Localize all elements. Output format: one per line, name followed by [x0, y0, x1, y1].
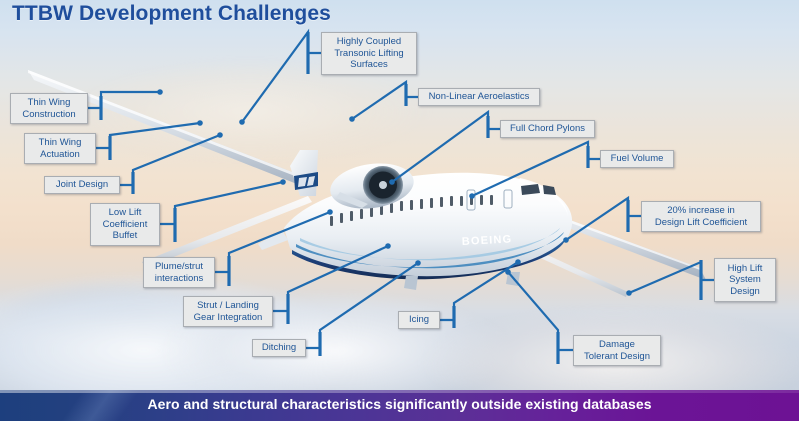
callout-joint-design[interactable]: Joint Design [44, 176, 120, 194]
callout-icing[interactable]: Icing [398, 311, 440, 329]
callout-thin-wing-construction[interactable]: Thin Wing Construction [10, 93, 88, 124]
callout-non-linear-aeroelastics[interactable]: Non-Linear Aeroelastics [418, 88, 540, 106]
slide-root: BOEING [0, 0, 799, 421]
callout-fuel-volume[interactable]: Fuel Volume [600, 150, 674, 168]
banner-text: Aero and structural characteristics sign… [0, 396, 799, 412]
callout-twenty-percent-increase-design-lift-coefficient[interactable]: 20% increase in Design Lift Coefficient [641, 201, 761, 232]
callout-plume-strut-interactions[interactable]: Plume/strut interactions [143, 257, 215, 288]
callout-thin-wing-actuation[interactable]: Thin Wing Actuation [24, 133, 96, 164]
banner-top-edge [0, 390, 799, 393]
callout-high-lift-system-design[interactable]: High Lift System Design [714, 258, 776, 302]
callout-full-chord-pylons[interactable]: Full Chord Pylons [500, 120, 595, 138]
callout-strut-landing-gear-integration[interactable]: Strut / Landing Gear Integration [183, 296, 273, 327]
callout-highly-coupled-transonic-lifting-surfaces[interactable]: Highly Coupled Transonic Lifting Surface… [321, 32, 417, 75]
bottom-banner: Aero and structural characteristics sign… [0, 390, 799, 421]
page-title: TTBW Development Challenges [12, 2, 331, 26]
callout-damage-tolerant-design[interactable]: Damage Tolerant Design [573, 335, 661, 366]
callout-ditching[interactable]: Ditching [252, 339, 306, 357]
callout-low-lift-coefficient-buffet[interactable]: Low Lift Coefficient Buffet [90, 203, 160, 246]
